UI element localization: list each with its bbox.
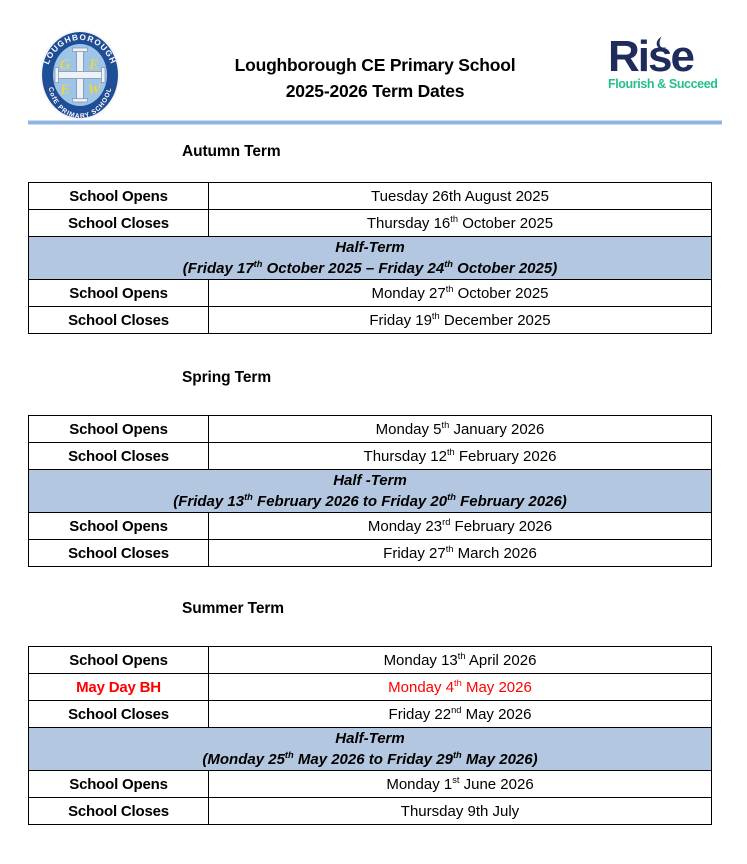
- table-row: School OpensMonday 1st June 2026: [29, 771, 712, 798]
- row-date-value: Friday 22nd May 2026: [209, 701, 712, 728]
- row-label: School Opens: [29, 183, 209, 210]
- ordinal-suffix: th: [285, 750, 294, 760]
- half-term-cell: Half-Term(Friday 17th October 2025 – Fri…: [29, 237, 712, 280]
- date-text: March 2026: [453, 545, 536, 562]
- header-divider: [28, 120, 722, 125]
- row-date-value: Monday 23rd February 2026: [209, 513, 712, 540]
- row-label: School Closes: [29, 210, 209, 237]
- date-text: Thursday 16: [367, 215, 450, 232]
- date-text: February 2026 to Friday 20: [253, 493, 447, 510]
- row-label: School Opens: [29, 513, 209, 540]
- svg-text:W: W: [87, 82, 102, 98]
- svg-text:E: E: [59, 82, 70, 98]
- date-text: Thursday 12: [364, 448, 447, 465]
- half-term-title: Half -Term: [31, 470, 709, 491]
- ordinal-suffix: th: [458, 651, 466, 661]
- ordinal-suffix: th: [454, 678, 462, 688]
- row-label: School Closes: [29, 307, 209, 334]
- date-text: (Friday 13: [173, 493, 244, 510]
- term-heading: Spring Term: [182, 369, 271, 387]
- term-table: School OpensMonday 5th January 2026Schoo…: [28, 415, 712, 567]
- ordinal-suffix: th: [447, 447, 455, 457]
- date-text: December 2025: [440, 312, 551, 329]
- date-text: February 2026): [456, 493, 567, 510]
- ordinal-suffix: th: [450, 214, 458, 224]
- row-date-value: Monday 13th April 2026: [209, 647, 712, 674]
- half-term-dates: (Monday 25th May 2026 to Friday 29th May…: [31, 749, 709, 770]
- ordinal-suffix: th: [453, 750, 462, 760]
- row-date-value: Monday 27th October 2025: [209, 280, 712, 307]
- term-heading: Summer Term: [182, 600, 284, 618]
- half-term-cell: Half -Term(Friday 13th February 2026 to …: [29, 470, 712, 513]
- ordinal-suffix: th: [244, 492, 253, 502]
- date-text: Friday 27: [383, 545, 446, 562]
- half-term-title: Half-Term: [31, 728, 709, 749]
- date-text: May 2026: [461, 706, 531, 723]
- date-text: Monday 4: [388, 679, 454, 696]
- table-row: School OpensMonday 13th April 2026: [29, 647, 712, 674]
- row-label: School Closes: [29, 540, 209, 567]
- row-date-value: Tuesday 26th August 2025: [209, 183, 712, 210]
- date-text: May 2026 to Friday 29: [294, 751, 453, 768]
- date-text: October 2025 – Friday 24: [262, 260, 444, 277]
- table-row: Half-Term(Friday 17th October 2025 – Fri…: [29, 237, 712, 280]
- half-term-title: Half-Term: [31, 237, 709, 258]
- row-date-value: Thursday 16th October 2025: [209, 210, 712, 237]
- row-date-value: Monday 5th January 2026: [209, 416, 712, 443]
- date-text: Thursday 9th July: [401, 803, 519, 820]
- row-label: School Closes: [29, 443, 209, 470]
- row-date-value: Monday 1st June 2026: [209, 771, 712, 798]
- date-text: October 2025: [453, 285, 548, 302]
- half-term-cell: Half-Term(Monday 25th May 2026 to Friday…: [29, 728, 712, 771]
- rise-swirl-icon: [655, 36, 668, 52]
- crest-icon: G E E W LOUGHBOROUGH CofE PRIMARY SCHOOL: [32, 28, 128, 122]
- date-text: Monday 23: [368, 518, 442, 535]
- ordinal-suffix: th: [447, 492, 456, 502]
- school-crest-logo: G E E W LOUGHBOROUGH CofE PRIMARY SCHOOL: [32, 28, 128, 122]
- date-text: April 2026: [466, 652, 537, 669]
- ordinal-suffix: th: [444, 259, 453, 269]
- date-text: January 2026: [449, 421, 544, 438]
- ordinal-suffix: nd: [451, 705, 461, 715]
- school-name: Loughborough CE Primary School: [140, 52, 610, 78]
- date-text: October 2025: [458, 215, 553, 232]
- table-row: School ClosesThursday 9th July: [29, 798, 712, 825]
- date-text: Monday 27: [371, 285, 445, 302]
- date-text: (Monday 25: [202, 751, 285, 768]
- date-text: May 2026: [462, 679, 532, 696]
- table-row: School OpensMonday 27th October 2025: [29, 280, 712, 307]
- row-label: School Closes: [29, 798, 209, 825]
- date-text: May 2026): [462, 751, 538, 768]
- table-row: School ClosesFriday 19th December 2025: [29, 307, 712, 334]
- row-label: School Opens: [29, 771, 209, 798]
- table-row: School OpensTuesday 26th August 2025: [29, 183, 712, 210]
- date-text: February 2026: [455, 448, 557, 465]
- table-row: School ClosesFriday 27th March 2026: [29, 540, 712, 567]
- row-label: May Day BH: [29, 674, 209, 701]
- date-text: (Friday 17: [183, 260, 254, 277]
- table-row: School ClosesFriday 22nd May 2026: [29, 701, 712, 728]
- document-header: G E E W LOUGHBOROUGH CofE PRIMARY SCHOOL…: [0, 0, 747, 118]
- term-dates-document: G E E W LOUGHBOROUGH CofE PRIMARY SCHOOL…: [0, 0, 747, 864]
- date-text: Monday 13: [384, 652, 458, 669]
- row-date-value: Thursday 12th February 2026: [209, 443, 712, 470]
- header-title-block: Loughborough CE Primary School 2025-2026…: [140, 52, 610, 104]
- table-row: May Day BHMonday 4th May 2026: [29, 674, 712, 701]
- page-title: 2025-2026 Term Dates: [140, 78, 610, 104]
- term-table: School OpensMonday 13th April 2026May Da…: [28, 646, 712, 825]
- rise-tagline: Flourish & Succeed: [608, 77, 726, 91]
- svg-text:E: E: [88, 57, 99, 73]
- date-text: Friday 22: [389, 706, 452, 723]
- term-heading: Autumn Term: [182, 143, 281, 161]
- table-row: School ClosesThursday 12th February 2026: [29, 443, 712, 470]
- row-label: School Opens: [29, 416, 209, 443]
- date-text: February 2026: [450, 518, 552, 535]
- table-row: School OpensMonday 5th January 2026: [29, 416, 712, 443]
- row-label: School Opens: [29, 280, 209, 307]
- half-term-dates: (Friday 13th February 2026 to Friday 20t…: [31, 491, 709, 512]
- half-term-dates: (Friday 17th October 2025 – Friday 24th …: [31, 258, 709, 279]
- date-text: Friday 19: [369, 312, 432, 329]
- date-text: Tuesday 26th August 2025: [371, 188, 549, 205]
- row-date-value: Monday 4th May 2026: [209, 674, 712, 701]
- table-row: Half -Term(Friday 13th February 2026 to …: [29, 470, 712, 513]
- table-row: School OpensMonday 23rd February 2026: [29, 513, 712, 540]
- row-date-value: Friday 27th March 2026: [209, 540, 712, 567]
- date-text: Monday 5: [376, 421, 442, 438]
- row-date-value: Thursday 9th July: [209, 798, 712, 825]
- date-text: October 2025): [453, 260, 557, 277]
- table-row: Half-Term(Monday 25th May 2026 to Friday…: [29, 728, 712, 771]
- term-table: School OpensTuesday 26th August 2025Scho…: [28, 182, 712, 334]
- table-row: School ClosesThursday 16th October 2025: [29, 210, 712, 237]
- row-date-value: Friday 19th December 2025: [209, 307, 712, 334]
- row-label: School Closes: [29, 701, 209, 728]
- row-label: School Opens: [29, 647, 209, 674]
- svg-text:G: G: [60, 57, 71, 73]
- rise-logo: Rise Flourish & Succeed: [608, 34, 726, 104]
- date-text: Monday 1: [386, 776, 452, 793]
- ordinal-suffix: th: [432, 311, 440, 321]
- date-text: June 2026: [459, 776, 533, 793]
